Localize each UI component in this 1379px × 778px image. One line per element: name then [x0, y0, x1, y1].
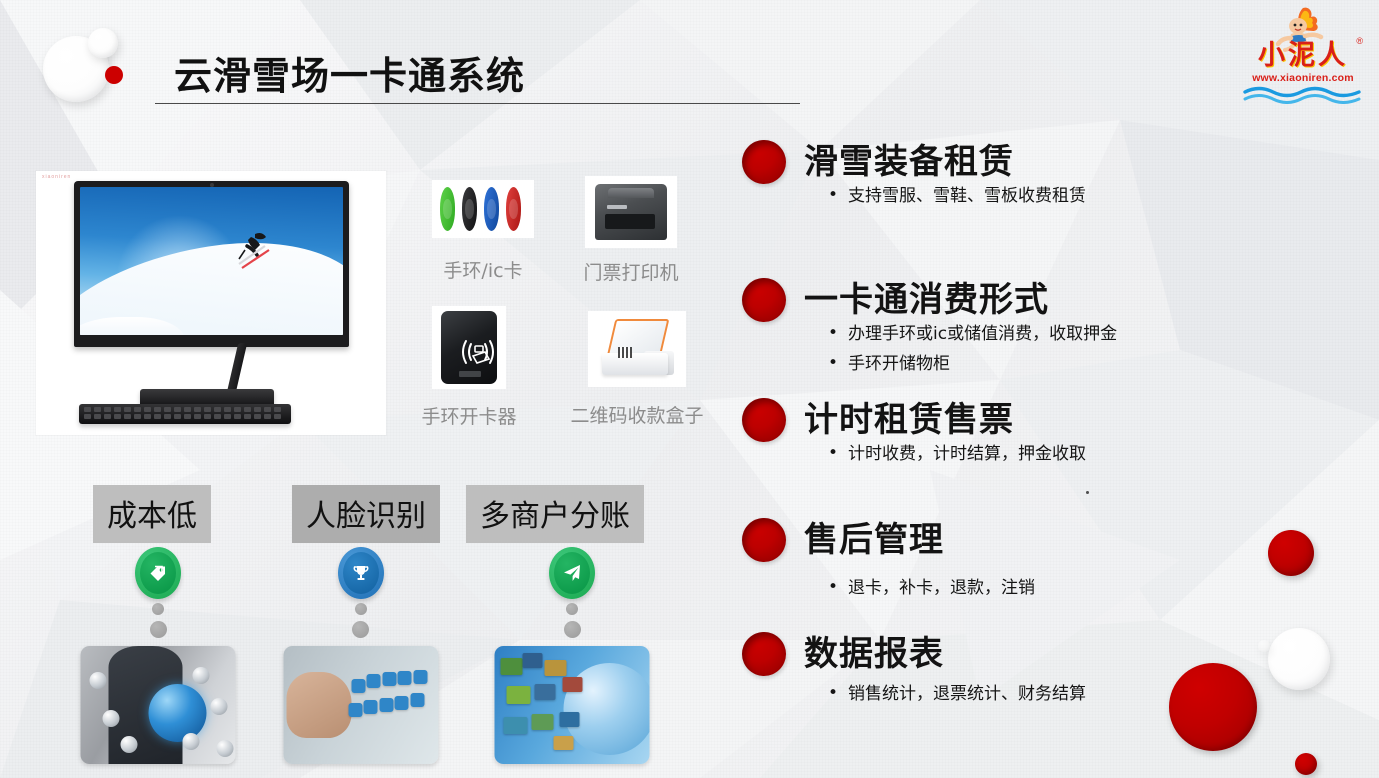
deco-circle-red-small: [1295, 753, 1317, 775]
nfc-wave-icon: [457, 337, 499, 367]
paper-plane-icon[interactable]: [549, 547, 595, 599]
qr-code-strip: [618, 347, 632, 358]
device-caption: 二维码收款盒子: [570, 401, 703, 428]
thermal-printer-icon: [585, 176, 677, 248]
device-printer: 门票打印机: [585, 176, 677, 248]
feature-photo: [495, 646, 650, 764]
qr-payment-box-icon: [588, 311, 686, 387]
wristband-icon: [432, 180, 534, 238]
section-items: 退卡，补卡，退款，注销: [826, 576, 1035, 606]
connector-dot-small: [152, 603, 164, 615]
feature-label: 人脸识别: [292, 485, 440, 543]
list-item: 办理手环或ic或储值消费，收取押金: [826, 322, 1117, 348]
deco-circle-red-large: [1169, 663, 1257, 751]
nfc-reader-icon: [432, 306, 506, 389]
section-title: 数据报表: [804, 626, 944, 675]
skier-icon: [225, 224, 283, 282]
photo-watermark: xiaoniren: [42, 174, 71, 180]
slide-canvas: 云滑雪场一卡通系统 ® 小泥人 www.xiaoniren.com xiaoni…: [0, 0, 1379, 778]
section-items: 支持雪服、雪鞋、雪板收费租赁: [826, 184, 1086, 214]
printer-led: [607, 205, 627, 209]
deco-circle-white-right: [1268, 628, 1330, 690]
slide-header: 云滑雪场一卡通系统: [0, 0, 1379, 120]
logo-brand-text: 小泥人: [1237, 42, 1369, 69]
section-items: 销售统计，退票统计、财务结算: [826, 682, 1086, 712]
tag-icon[interactable]: [135, 547, 181, 599]
connector-dot-large: [564, 621, 581, 638]
reader-body: [441, 311, 497, 384]
printer-body: [595, 184, 667, 240]
section-title: 滑雪装备租赁: [804, 134, 1014, 183]
list-item: 手环开储物柜: [826, 352, 1117, 378]
logo-url-text: www.xiaoniren.com: [1237, 72, 1369, 84]
section-items: 计时收费，计时结算，押金收取: [826, 442, 1086, 472]
qr-base: [602, 353, 668, 375]
feature-photo: [81, 646, 236, 764]
connector-dot-small: [355, 603, 367, 615]
monitor-screen: [80, 187, 343, 335]
title-underline: [155, 103, 800, 104]
device-caption: 门票打印机: [583, 258, 678, 285]
section-bullet-icon: [742, 278, 786, 322]
section-title: 售后管理: [804, 512, 944, 561]
keyboard: [79, 404, 291, 424]
feature-label: 成本低: [93, 485, 211, 543]
device-caption: 手环/ic卡: [443, 256, 522, 283]
device-qr-box: 二维码收款盒子: [588, 311, 686, 387]
section-items: 办理手环或ic或储值消费，收取押金 手环开储物柜: [826, 322, 1117, 381]
list-item: 支持雪服、雪鞋、雪板收费租赁: [826, 184, 1086, 210]
monitor-frame: [74, 181, 349, 347]
connector-dot-large: [352, 621, 369, 638]
trophy-icon[interactable]: [338, 547, 384, 599]
list-item: 销售统计，退票统计、财务结算: [826, 682, 1086, 708]
printer-paper-slot: [605, 214, 655, 229]
list-item: 退卡，补卡，退款，注销: [826, 576, 1035, 602]
reader-label: [459, 371, 481, 377]
page-title: 云滑雪场一卡通系统: [174, 45, 525, 100]
device-wristband: 手环/ic卡: [432, 180, 534, 238]
printer-lid: [608, 188, 654, 198]
section-bullet-icon: [742, 632, 786, 676]
connector-dot-large: [150, 621, 167, 638]
deco-circle-red-top: [1268, 530, 1314, 576]
section-title: 一卡通消费形式: [804, 272, 1049, 321]
connector-dot-small: [566, 603, 578, 615]
workstation-photo: xiaoniren: [36, 171, 386, 435]
device-caption: 手环开卡器: [421, 402, 516, 429]
feature-photo: [283, 646, 438, 764]
section-bullet-icon: [742, 518, 786, 562]
section-bullet-icon: [742, 140, 786, 184]
deco-dot-white: [1258, 640, 1270, 652]
wave-icon: [1243, 84, 1363, 104]
section-bullet-icon: [742, 398, 786, 442]
list-item: 计时收费，计时结算，押金收取: [826, 442, 1086, 468]
section-title: 计时租赁售票: [804, 392, 1014, 441]
stray-dot-artifact: [1086, 491, 1089, 494]
company-logo[interactable]: ® 小泥人 www.xiaoniren.com: [1237, 6, 1369, 104]
device-card-reader: 手环开卡器: [432, 306, 506, 389]
feature-label: 多商户分账: [466, 485, 644, 543]
